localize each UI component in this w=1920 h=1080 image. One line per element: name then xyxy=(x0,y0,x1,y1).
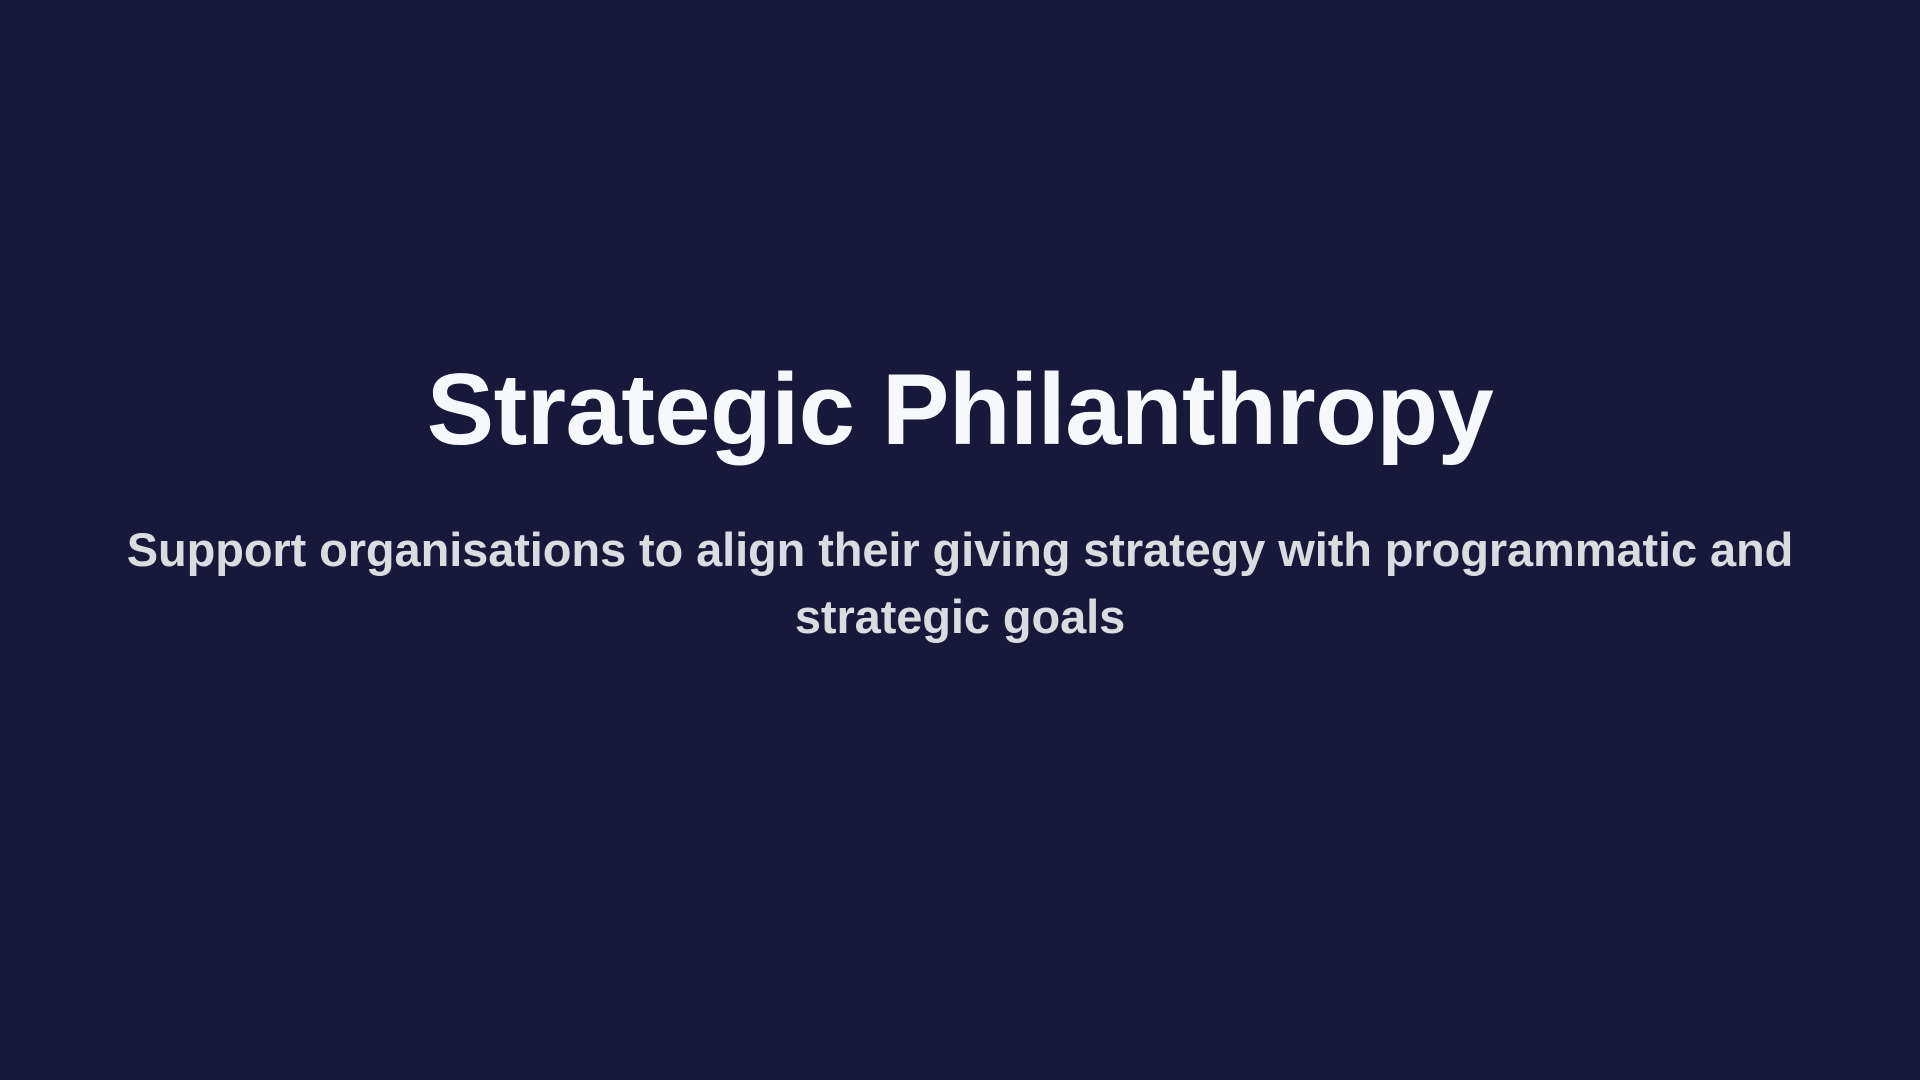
presentation-slide: Strategic Philanthropy Support organisat… xyxy=(0,0,1920,1080)
slide-content-block: Strategic Philanthropy Support organisat… xyxy=(0,0,1920,651)
slide-subtitle: Support organisations to align their giv… xyxy=(24,465,1896,650)
slide-title: Strategic Philanthropy xyxy=(427,0,1494,465)
